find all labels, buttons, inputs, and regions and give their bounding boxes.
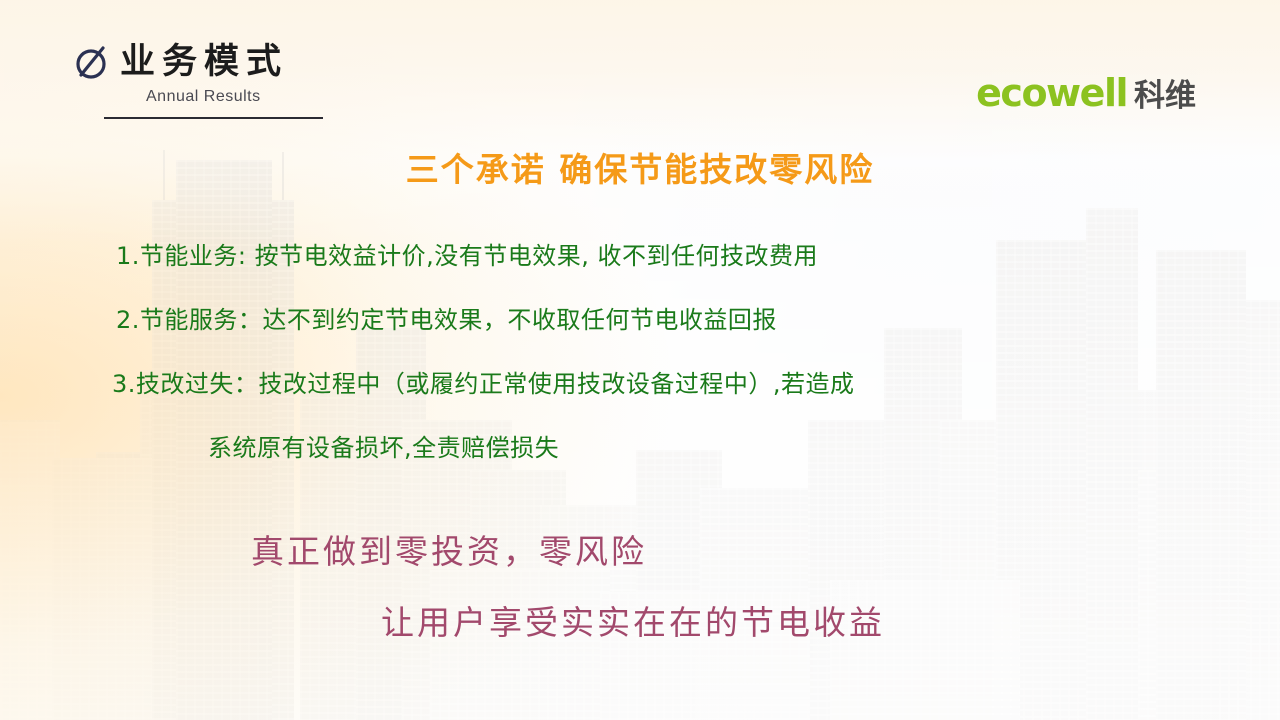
content-headline: 三个承诺 确保节能技改零风险 <box>0 143 1280 191</box>
list-item: 1.节能业务: 按节电效益计价,没有节电效果, 收不到任何技改费用 <box>116 236 818 271</box>
ecowell-logo: ecowell 科维 <box>976 74 1196 112</box>
list-item-continuation: 系统原有设备损坏,全责赔偿损失 <box>208 428 559 463</box>
page-title: 业务模式 <box>120 33 288 84</box>
conclusion-line: 让用户享受实实在在的节电收益 <box>381 596 885 644</box>
title-divider <box>104 117 323 119</box>
list-item: 2.节能服务：达不到约定节电效果，不收取任何节电收益回报 <box>116 300 777 335</box>
page-subtitle: Annual Results <box>146 88 261 106</box>
presentation-slide: 业务模式 Annual Results ecowell 科维 三个承诺 确保节能… <box>0 0 1280 720</box>
slashed-circle-icon <box>70 40 114 84</box>
list-item: 3.技改过失：技改过程中（或履约正常使用技改设备过程中）,若造成 <box>112 364 855 399</box>
conclusion-line: 真正做到零投资，零风险 <box>251 525 647 573</box>
logo-chinese-name: 科维 <box>1134 81 1196 112</box>
logo-wordmark: ecowell <box>976 74 1127 112</box>
